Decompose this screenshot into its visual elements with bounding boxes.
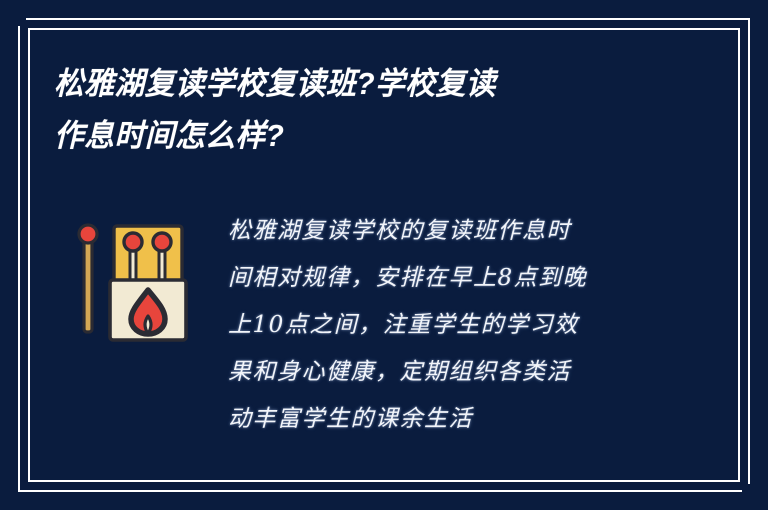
page-title-line-2: 作息时间怎么样?	[54, 110, 688, 162]
body-line-1: 松雅湖复读学校的复读班作息时	[228, 208, 664, 255]
body-line-3: 上10点之间，注重学生的学习效	[228, 302, 664, 349]
page-title-line-1: 松雅湖复读学校复读班?学校复读	[54, 58, 688, 110]
poster-canvas: 松雅湖复读学校复读班?学校复读 作息时间怎么样?	[0, 0, 768, 510]
body-line-2: 间相对规律，安排在早上8点到晚	[228, 255, 664, 302]
matchbox-illustration	[70, 218, 190, 348]
page-title: 松雅湖复读学校复读班?学校复读 作息时间怎么样?	[54, 58, 714, 162]
frame-corner-mask-top-left	[0, 0, 26, 26]
frame-corner-mask-bottom-right	[742, 484, 768, 510]
matchbox-tray-icon	[114, 226, 182, 286]
body-paragraph: 松雅湖复读学校的复读班作息时 间相对规律，安排在早上8点到晚 上10点之间，注重…	[228, 208, 664, 443]
body-line-4: 果和身心健康，定期组织各类活	[228, 349, 664, 396]
body-line-5: 动丰富学生的课余生活	[228, 396, 664, 443]
matchbox-drawer-icon	[110, 280, 186, 340]
single-match-icon	[79, 225, 97, 332]
